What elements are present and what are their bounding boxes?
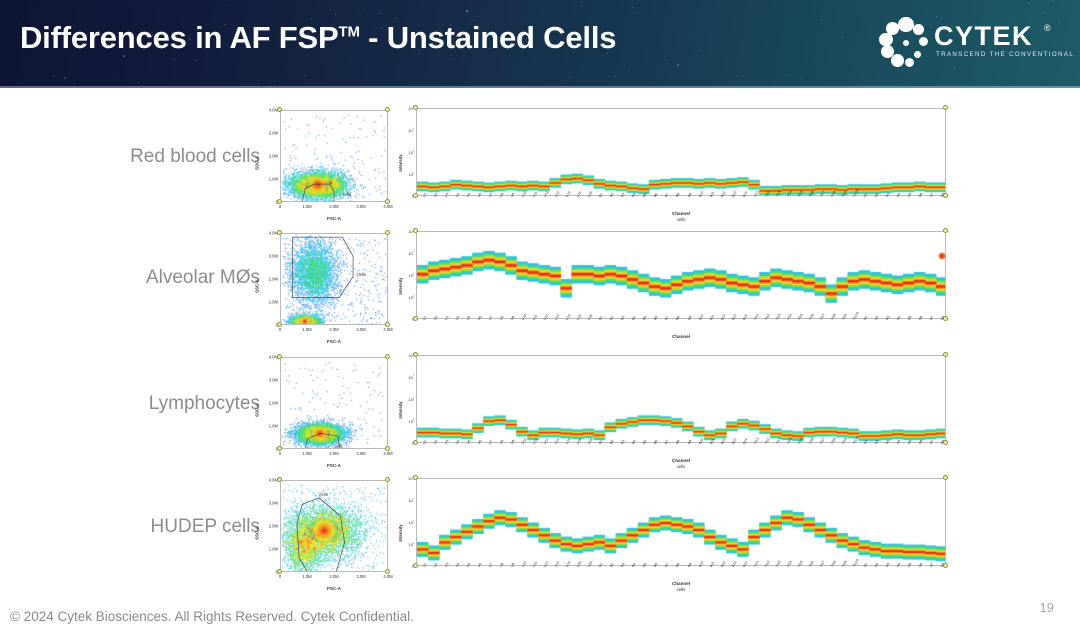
header-divider <box>0 86 1080 88</box>
spectral-channel-tick: V11 <box>532 191 538 198</box>
spectral-channel-tick: V13 <box>554 438 560 445</box>
spectral-channel-tick: V7 <box>488 192 493 198</box>
spectral-channel-tick: V10 <box>521 561 527 568</box>
plot-resize-handle[interactable] <box>413 440 418 445</box>
spectral-y-ticks: 010²10³10⁴10⁵ <box>416 478 946 566</box>
spectral-x-ticks: V1V2V3V4V5V6V7V8V9V10V11V12V13V14V15V16B… <box>416 566 946 582</box>
scatter-axis-ticks: 01.0M2.0M3.0M4.0M01.0M2.0M3.0M4.0M <box>280 357 388 449</box>
spectral-channel-tick: B1 <box>598 315 603 321</box>
spectral-channel-tick: B6 <box>653 192 658 198</box>
spectral-channel-tick: V11 <box>532 561 538 568</box>
spectral-channel-tick: R3 <box>885 562 891 568</box>
spectral-channel-tick: R1 <box>863 562 869 568</box>
scatter-x-tick: 1.0M <box>302 451 311 456</box>
plot-resize-handle[interactable] <box>943 352 948 357</box>
spectral-channel-tick: V5 <box>466 562 471 568</box>
spectral-channel-tick: R2 <box>874 315 880 321</box>
row-label-4: HUDEP cells <box>60 516 260 538</box>
spectral-y-axis-label: Intensity <box>398 277 403 294</box>
plot-resize-handle[interactable] <box>277 107 282 112</box>
spectral-channel-tick: V9 <box>510 192 515 198</box>
spectral-y-tick: 10⁴ <box>408 497 414 503</box>
spectral-channel-tick: V4 <box>455 315 460 321</box>
spectral-channel-tick: V10 <box>521 438 527 445</box>
spectral-channel-tick: V2 <box>433 439 438 445</box>
trademark-symbol: TM <box>339 24 360 41</box>
spectral-channel-tick: V2 <box>433 315 438 321</box>
spectral-channel-tick: V7 <box>488 315 493 321</box>
plot-resize-handle[interactable] <box>385 107 390 112</box>
spectral-channel-tick: V4 <box>455 192 460 198</box>
plot-resize-handle[interactable] <box>413 193 418 198</box>
spectral-sub-label: cells <box>416 464 946 469</box>
spectral-channel-tick: V8 <box>499 439 504 445</box>
plot-resize-handle[interactable] <box>277 446 282 451</box>
spectral-sub-label: cells <box>416 587 946 592</box>
gate-label: cells <box>334 444 343 449</box>
spectral-channel-tick: R6 <box>918 192 924 198</box>
scatter-x-axis-label: FSC-A <box>280 216 388 221</box>
scatter-plot-3[interactable]: SSC-AFSC-Acells01.0M2.0M3.0M4.0M01.0M2.0… <box>252 351 394 469</box>
page-number: 19 <box>1040 600 1054 615</box>
scatter-y-tick: 2.0M <box>269 154 278 159</box>
spectral-y-ticks: 010²10³10⁴10⁵ <box>416 231 946 319</box>
spectral-channel-tick: R5 <box>907 192 913 198</box>
spectral-channel-tick: R3 <box>885 439 891 445</box>
spectral-channel-tick: B2 <box>609 439 614 445</box>
spectral-channel-tick: V1 <box>422 439 427 445</box>
plot-resize-handle[interactable] <box>943 440 948 445</box>
spectral-channel-tick: R6 <box>918 562 924 568</box>
plot-resize-handle[interactable] <box>385 199 390 204</box>
spectral-channel-tick: R7 <box>929 315 935 321</box>
page-title: Differences in AF FSPTM - Unstained Cell… <box>20 20 616 56</box>
spectral-channel-tick: B4 <box>631 439 636 445</box>
scatter-y-tick: 1.0M <box>269 547 278 552</box>
spectral-channel-tick: B4 <box>631 192 636 198</box>
plot-resize-handle[interactable] <box>385 569 390 574</box>
spectral-channel-tick: B8 <box>675 562 680 568</box>
cytek-logo-mark-icon <box>884 22 928 66</box>
spectral-channel-tick: V8 <box>499 315 504 321</box>
scatter-y-axis-label: SSC-A <box>254 403 259 417</box>
scatter-x-axis-label: FSC-A <box>280 463 388 468</box>
spectral-channel-tick: B7 <box>664 192 669 198</box>
spectral-channel-tick: B4 <box>631 315 636 321</box>
spectral-channel-tick: R7 <box>929 562 935 568</box>
spectral-y-axis-label: Intensity <box>398 401 403 418</box>
scatter-x-tick: 1.0M <box>302 327 311 332</box>
spectral-channel-tick: B9 <box>687 315 692 321</box>
spectral-channel-tick: B7 <box>664 562 669 568</box>
spectral-y-tick: 10² <box>409 541 414 547</box>
scatter-x-tick: 0 <box>279 574 281 579</box>
spectral-channel-tick: B5 <box>642 562 647 568</box>
spectral-channel-tick: R1 <box>863 192 869 198</box>
plot-row: Alveolar MØsSSC-AFSC-Acells01.0M2.0M3.0M… <box>0 227 1080 345</box>
spectral-channel-tick: V12 <box>543 314 549 321</box>
spectral-y-axis-label: Intensity <box>398 524 403 541</box>
scatter-plot-4[interactable]: SSC-AFSC-Acells01.0M2.0M3.0M4.0M01.0M2.0… <box>252 474 394 592</box>
spectral-channel-tick: B5 <box>642 315 647 321</box>
row-label-3: Lymphocytes <box>60 393 260 415</box>
plot-resize-handle[interactable] <box>385 322 390 327</box>
plot-resize-handle[interactable] <box>413 228 418 233</box>
spectral-channel-tick: V4 <box>455 562 460 568</box>
spectral-channel-tick: B9 <box>687 192 692 198</box>
spectral-channel-tick: V6 <box>477 562 482 568</box>
spectral-y-tick: 10³ <box>409 272 414 278</box>
scatter-y-tick: 1.0M <box>269 424 278 429</box>
spectral-channel-tick: V1 <box>422 192 427 198</box>
spectral-channel-tick: V10 <box>521 191 527 198</box>
scatter-plot-1[interactable]: SSC-AFSC-Acells01.0M2.0M3.0M4.0M01.0M2.0… <box>252 104 394 222</box>
scatter-y-tick: 1.0M <box>269 177 278 182</box>
spectral-channel-tick: V5 <box>466 315 471 321</box>
spectral-channel-tick: V6 <box>477 439 482 445</box>
spectral-channel-tick: V6 <box>477 315 482 321</box>
scatter-y-axis-label: SSC-A <box>254 279 259 293</box>
spectral-channel-tick: R4 <box>896 192 902 198</box>
spectral-channel-tick: V13 <box>554 314 560 321</box>
scatter-x-tick: 1.0M <box>302 574 311 579</box>
spectral-x-ticks: V1V2V3V4V5V6V7V8V9V10V11V12V13V14V15V16B… <box>416 443 946 459</box>
spectral-channel-tick: B4 <box>631 562 636 568</box>
cytek-logo: CYTEK ® TRANSCEND THE CONVENTIONAL <box>884 18 1062 70</box>
spectral-channel-tick: R5 <box>907 439 913 445</box>
scatter-x-tick: 0 <box>279 327 281 332</box>
spectral-channel-tick: B5 <box>642 192 647 198</box>
row-label-2: Alveolar MØs <box>60 267 260 289</box>
spectral-plot-3[interactable]: IntensityChannelcells010²10³10⁴10⁵V1V2V3… <box>392 351 954 469</box>
plot-resize-handle[interactable] <box>385 230 390 235</box>
spectral-channel-tick: B6 <box>653 315 658 321</box>
spectral-channel-tick: B1 <box>598 562 603 568</box>
spectral-channel-tick: R3 <box>885 192 891 198</box>
gate-label: cells <box>319 492 328 497</box>
scatter-y-tick: 3.0M <box>269 501 278 506</box>
plot-resize-handle[interactable] <box>943 105 948 110</box>
spectral-channel-tick: V8 <box>499 562 504 568</box>
plot-resize-handle[interactable] <box>277 230 282 235</box>
plot-resize-handle[interactable] <box>943 475 948 480</box>
spectral-channel-tick: B8 <box>675 192 680 198</box>
spectral-channel-tick: V11 <box>532 314 538 321</box>
spectral-channel-tick: B2 <box>609 315 614 321</box>
spectral-y-tick: 10² <box>409 418 414 424</box>
scatter-x-tick: 2.0M <box>329 451 338 456</box>
gate-label: cells <box>357 272 366 277</box>
spectral-channel-tick: R7 <box>929 192 935 198</box>
plot-resize-handle[interactable] <box>943 228 948 233</box>
spectral-y-tick: 10⁴ <box>408 374 414 380</box>
scatter-x-axis-label: FSC-A <box>280 586 388 591</box>
spectral-channel-tick: V12 <box>543 561 549 568</box>
spectral-channel-tick: B8 <box>675 315 680 321</box>
plot-row: LymphocytesSSC-AFSC-Acells01.0M2.0M3.0M4… <box>0 351 1080 469</box>
scatter-x-tick: 1.0M <box>302 204 311 209</box>
scatter-axis-ticks: 01.0M2.0M3.0M4.0M01.0M2.0M3.0M4.0M <box>280 480 388 572</box>
spectral-channel-tick: R5 <box>907 315 913 321</box>
plot-resize-handle[interactable] <box>943 193 948 198</box>
spectral-channel-tick: B9 <box>687 439 692 445</box>
spectral-sub-label: cells <box>416 217 946 222</box>
spectral-y-tick: 10³ <box>409 149 414 155</box>
spectral-y-ticks: 010²10³10⁴10⁵ <box>416 355 946 443</box>
spectral-channel-tick: R7 <box>929 439 935 445</box>
spectral-channel-tick: V10 <box>521 314 527 321</box>
spectral-channel-tick: V1 <box>422 562 427 568</box>
scatter-x-axis-label: FSC-A <box>280 339 388 344</box>
spectral-channel-tick: V5 <box>466 192 471 198</box>
spectral-channel-tick: R2 <box>874 192 880 198</box>
plot-resize-handle[interactable] <box>413 352 418 357</box>
scatter-y-tick: 3.0M <box>269 131 278 136</box>
spectral-channel-tick: V7 <box>488 562 493 568</box>
spectral-channel-tick: B1 <box>598 439 603 445</box>
spectral-y-tick: 10² <box>409 294 414 300</box>
plot-resize-handle[interactable] <box>277 199 282 204</box>
spectral-channel-tick: V11 <box>532 438 538 445</box>
spectral-channel-tick: V5 <box>466 439 471 445</box>
spectral-channel-tick: V13 <box>554 191 560 198</box>
plot-resize-handle[interactable] <box>277 477 282 482</box>
spectral-channel-tick: B3 <box>620 315 625 321</box>
spectral-channel-tick: V13 <box>554 561 560 568</box>
spectral-plot-4[interactable]: IntensityChannelcells010²10³10⁴10⁵V1V2V3… <box>392 474 954 592</box>
spectral-channel-tick: R6 <box>918 439 924 445</box>
spectral-y-tick: 10³ <box>409 396 414 402</box>
scatter-y-tick: 3.0M <box>269 254 278 259</box>
scatter-y-tick: 2.0M <box>269 277 278 282</box>
plot-resize-handle[interactable] <box>413 105 418 110</box>
plot-resize-handle[interactable] <box>413 316 418 321</box>
scatter-x-tick: 2.0M <box>329 574 338 579</box>
scatter-x-tick: 0 <box>279 204 281 209</box>
spectral-channel-tick: V3 <box>444 192 449 198</box>
cytek-wordmark: CYTEK <box>934 21 1033 52</box>
spectral-channel-tick: R5 <box>907 562 913 568</box>
spectral-channel-tick: R4 <box>896 315 902 321</box>
plot-resize-handle[interactable] <box>385 477 390 482</box>
plot-row: HUDEP cellsSSC-AFSC-Acells01.0M2.0M3.0M4… <box>0 474 1080 592</box>
spectral-channel-tick: B9 <box>687 562 692 568</box>
scatter-axis-ticks: 01.0M2.0M3.0M4.0M01.0M2.0M3.0M4.0M <box>280 233 388 325</box>
spectral-y-tick: 10⁴ <box>408 127 414 133</box>
spectral-channel-tick: B1 <box>598 192 603 198</box>
spectral-channel-tick: V4 <box>455 439 460 445</box>
scatter-x-tick: 3.0M <box>356 451 365 456</box>
plot-resize-handle[interactable] <box>943 316 948 321</box>
gate-label: cells <box>342 192 351 197</box>
spectral-channel-tick: B6 <box>653 562 658 568</box>
footer-copyright: © 2024 Cytek Biosciences. All Rights Res… <box>10 609 414 624</box>
scatter-y-tick: 2.0M <box>269 524 278 529</box>
spectral-channel-tick: V8 <box>499 192 504 198</box>
spectral-channel-tick: V9 <box>510 562 515 568</box>
scatter-y-tick: 1.0M <box>269 300 278 305</box>
spectral-channel-tick: B8 <box>675 439 680 445</box>
scatter-plot-2[interactable]: SSC-AFSC-Acells01.0M2.0M3.0M4.0M01.0M2.0… <box>252 227 394 345</box>
spectral-channel-tick: R6 <box>918 315 924 321</box>
scatter-y-tick: 2.0M <box>269 401 278 406</box>
spectral-channel-tick: V9 <box>510 315 515 321</box>
plot-resize-handle[interactable] <box>277 569 282 574</box>
scatter-x-tick: 3.0M <box>356 204 365 209</box>
spectral-channel-tick: V7 <box>488 439 493 445</box>
spectral-channel-tick: V3 <box>444 562 449 568</box>
spectral-plot-1[interactable]: IntensityChannelcells010²10³10⁴10⁵V1V2V3… <box>392 104 954 222</box>
slide: Differences in AF FSPTM - Unstained Cell… <box>0 0 1080 633</box>
spectral-channel-tick: B7 <box>664 315 669 321</box>
plot-resize-handle[interactable] <box>413 475 418 480</box>
plot-resize-handle[interactable] <box>385 354 390 359</box>
spectral-channel-tick: V2 <box>433 562 438 568</box>
scatter-x-tick: 2.0M <box>329 327 338 332</box>
spectral-x-ticks: V1V2V3V4V5V6V7V8V9V10V11V12V13V14V15V16B… <box>416 319 946 335</box>
spectral-channel-tick: R4 <box>896 562 902 568</box>
spectral-channel-tick: B7 <box>664 439 669 445</box>
spectral-y-ticks: 010²10³10⁴10⁵ <box>416 108 946 196</box>
spectral-channel-tick: V3 <box>444 315 449 321</box>
scatter-axis-ticks: 01.0M2.0M3.0M4.0M01.0M2.0M3.0M4.0M <box>280 110 388 202</box>
spectral-channel-tick: R2 <box>874 439 880 445</box>
page-title-main: Differences in AF FSP <box>20 20 339 55</box>
slide-header: Differences in AF FSPTM - Unstained Cell… <box>0 0 1080 88</box>
spectral-channel-tick: V1 <box>422 315 427 321</box>
spectral-channel-tick: R2 <box>874 562 880 568</box>
plot-resize-handle[interactable] <box>385 446 390 451</box>
page-title-rest: - Unstained Cells <box>360 20 617 55</box>
spectral-channel-tick: B5 <box>642 439 647 445</box>
scatter-x-tick: 0 <box>279 451 281 456</box>
scatter-y-axis-label: SSC-A <box>254 526 259 540</box>
cytek-tagline: TRANSCEND THE CONVENTIONAL <box>936 51 1074 58</box>
spectral-x-ticks: V1V2V3V4V5V6V7V8V9V10V11V12V13V14V15V16B… <box>416 196 946 212</box>
scatter-y-tick: 3.0M <box>269 378 278 383</box>
spectral-channel-tick: B3 <box>620 192 625 198</box>
spectral-y-tick: 10³ <box>409 519 414 525</box>
spectral-channel-tick: V12 <box>543 191 549 198</box>
spectral-channel-tick: V2 <box>433 192 438 198</box>
spectral-channel-tick: B2 <box>609 192 614 198</box>
plot-resize-handle[interactable] <box>943 563 948 568</box>
registered-trademark-icon: ® <box>1044 23 1051 33</box>
scatter-x-tick: 3.0M <box>356 574 365 579</box>
spectral-channel-tick: B3 <box>620 439 625 445</box>
spectral-channel-tick: V9 <box>510 439 515 445</box>
spectral-channel-tick: R1 <box>863 439 869 445</box>
spectral-plot-2[interactable]: IntensityChannel010²10³10⁴10⁵V1V2V3V4V5V… <box>392 227 954 345</box>
spectral-y-tick: 10⁴ <box>408 250 414 256</box>
spectral-channel-tick: V3 <box>444 439 449 445</box>
spectral-channel-tick: R4 <box>896 439 902 445</box>
scatter-x-tick: 2.0M <box>329 204 338 209</box>
spectral-channel-tick: B3 <box>620 562 625 568</box>
spectral-channel-tick: V12 <box>543 438 549 445</box>
row-label-1: Red blood cells <box>60 146 260 168</box>
scatter-x-tick: 3.0M <box>356 327 365 332</box>
plot-resize-handle[interactable] <box>277 322 282 327</box>
plot-resize-handle[interactable] <box>277 354 282 359</box>
scatter-y-axis-label: SSC-A <box>254 156 259 170</box>
spectral-channel-tick: R1 <box>863 315 869 321</box>
spectral-y-axis-label: Intensity <box>398 154 403 171</box>
spectral-channel-tick: B2 <box>609 562 614 568</box>
plot-row: Red blood cellsSSC-AFSC-Acells01.0M2.0M3… <box>0 104 1080 222</box>
spectral-channel-tick: R3 <box>885 315 891 321</box>
plot-resize-handle[interactable] <box>413 563 418 568</box>
spectral-y-tick: 10² <box>409 171 414 177</box>
spectral-channel-tick: B6 <box>653 439 658 445</box>
spectral-channel-tick: V6 <box>477 192 482 198</box>
